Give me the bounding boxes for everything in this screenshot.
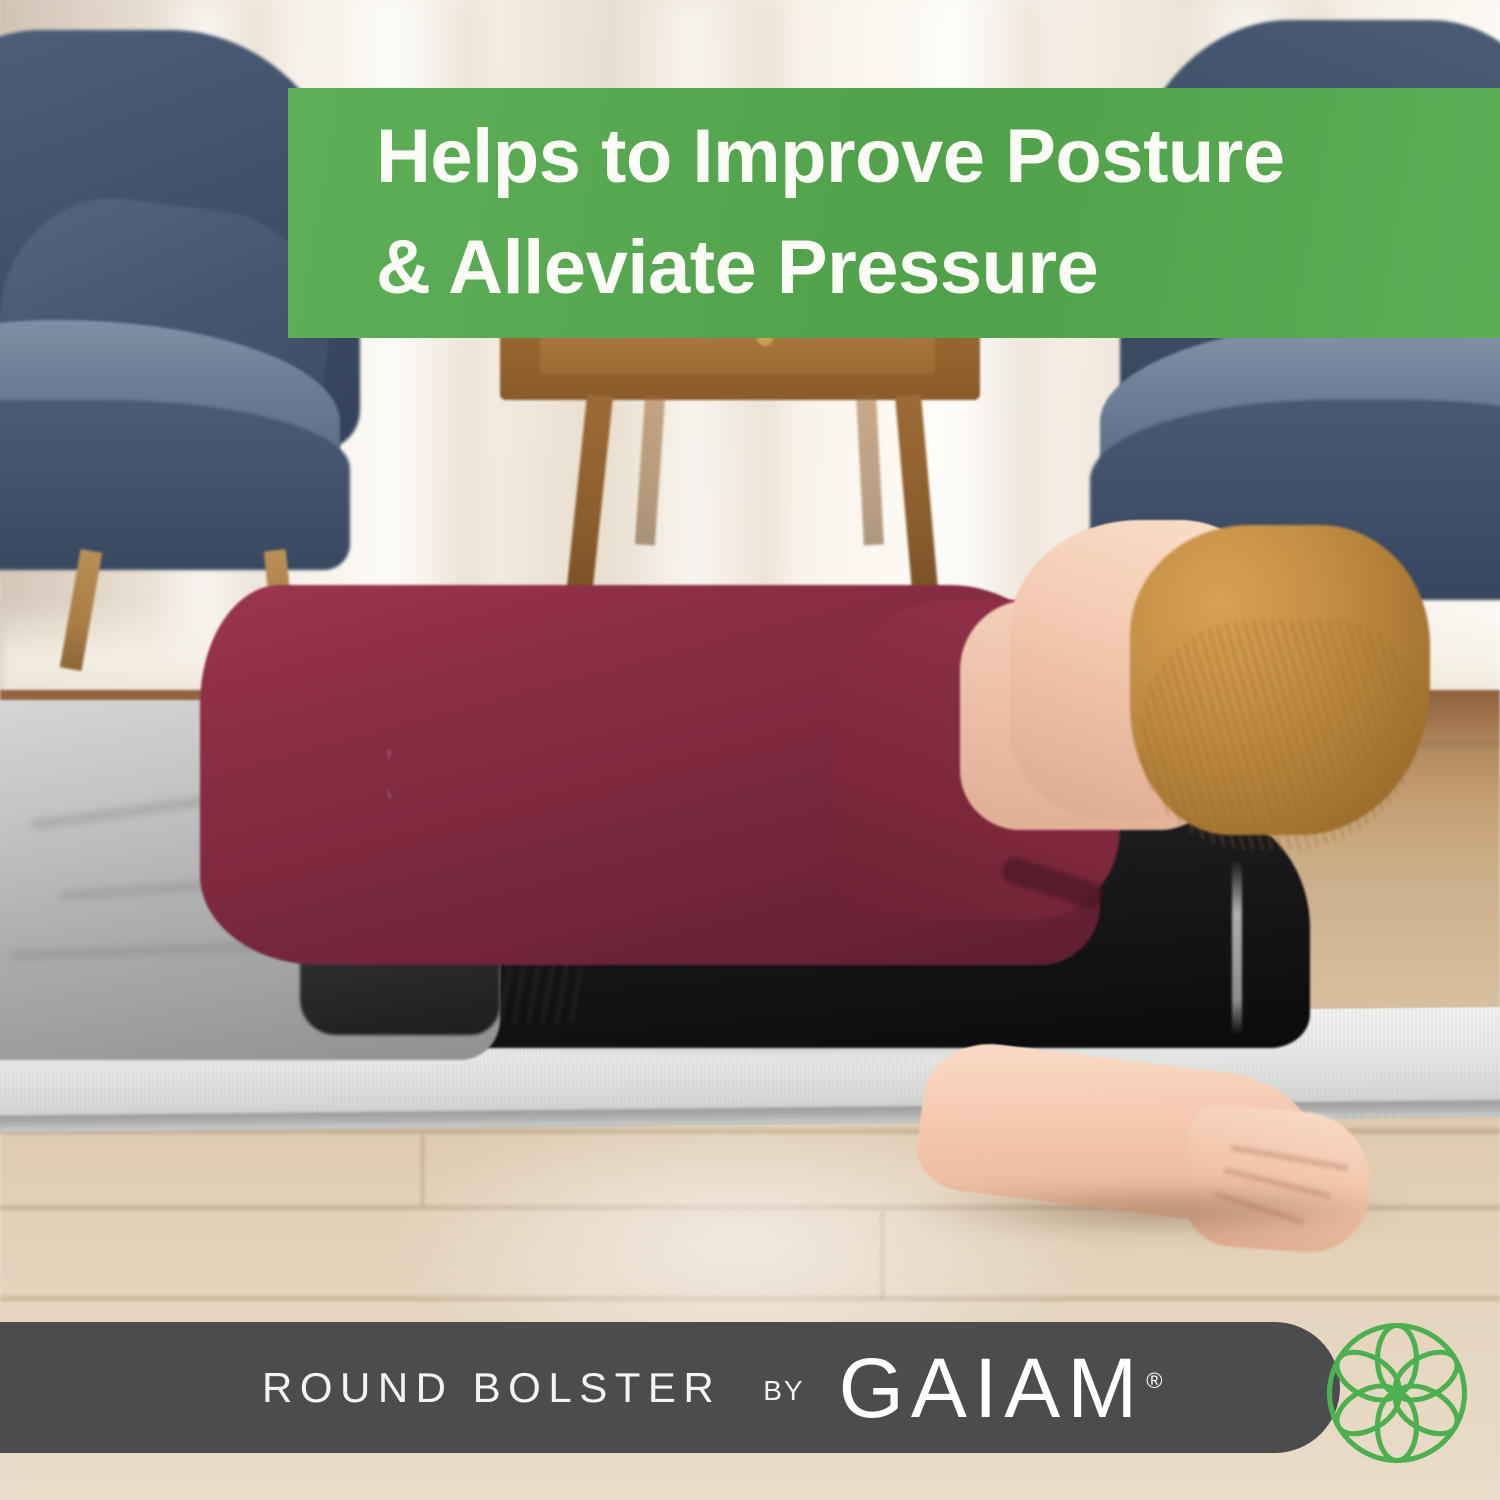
hair-strand-texture — [1140, 620, 1420, 850]
by-connector-label: BY — [763, 1375, 804, 1407]
chair-base — [0, 400, 350, 570]
headline-line-2: & Alleviate Pressure — [376, 213, 1500, 324]
brand-wordmark-text: GAIAM — [839, 1341, 1145, 1435]
bolster-zipper — [1232, 860, 1242, 1035]
gaiam-flower-logo-icon — [1322, 1318, 1472, 1468]
headline-line-1: Helps to Improve Posture — [376, 102, 1500, 213]
brand-wordmark: GAIAM® — [839, 1346, 1163, 1430]
product-lifestyle-image: Helps to Improve Posture & Alleviate Pre… — [0, 0, 1500, 1500]
shirt-brand-logo — [388, 750, 418, 798]
product-name-label: ROUND BOLSTER — [262, 1364, 721, 1412]
brand-bar: ROUND BOLSTER BY GAIAM® — [0, 1322, 1340, 1453]
headline-banner: Helps to Improve Posture & Alleviate Pre… — [288, 88, 1500, 338]
registered-trademark-icon: ® — [1146, 1368, 1162, 1393]
hand-floor-shadow — [900, 1185, 1420, 1237]
